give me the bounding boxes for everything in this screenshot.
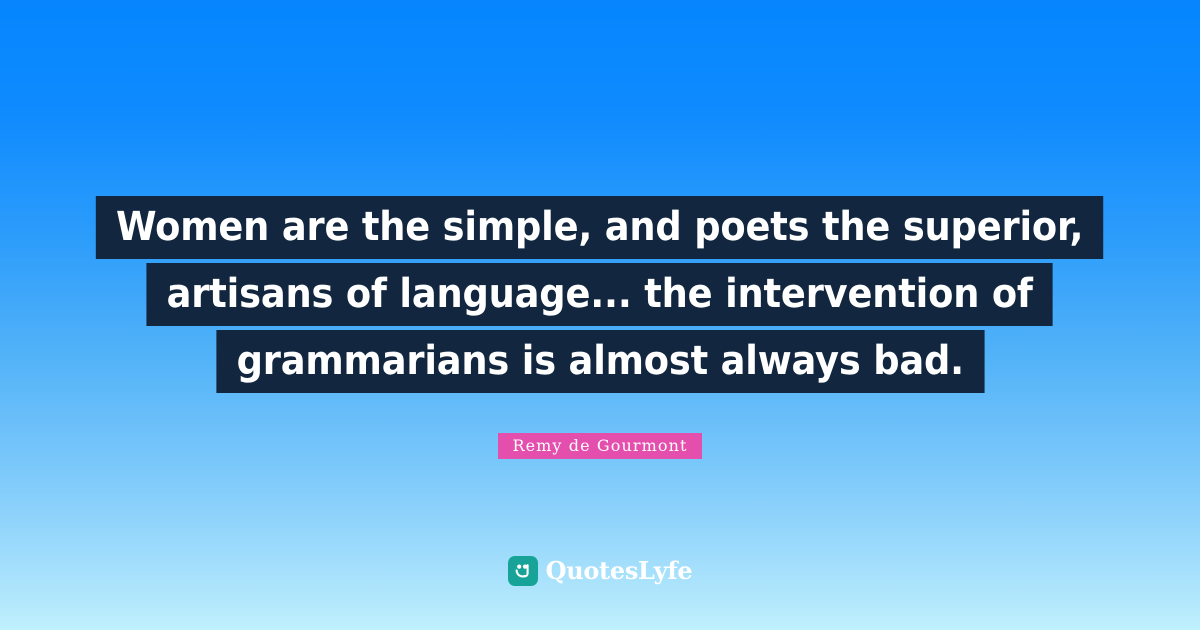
quotes-smiley-icon bbox=[508, 556, 538, 586]
brand-wordmark: QuotesLyfe bbox=[546, 556, 693, 586]
quote-line-1: Women are the simple, and poets the supe… bbox=[96, 196, 1104, 259]
quote-text-block: Women are the simple, and poets the supe… bbox=[0, 196, 1200, 397]
quote-line-2: artisans of language... the intervention… bbox=[147, 263, 1054, 326]
quote-card: Women are the simple, and poets the supe… bbox=[0, 0, 1200, 630]
site-logo[interactable]: QuotesLyfe bbox=[0, 556, 1200, 586]
quote-line-3: grammarians is almost always bad. bbox=[216, 330, 984, 393]
author-name-badge: Remy de Gourmont bbox=[498, 433, 701, 459]
author-attribution: Remy de Gourmont bbox=[0, 433, 1200, 459]
